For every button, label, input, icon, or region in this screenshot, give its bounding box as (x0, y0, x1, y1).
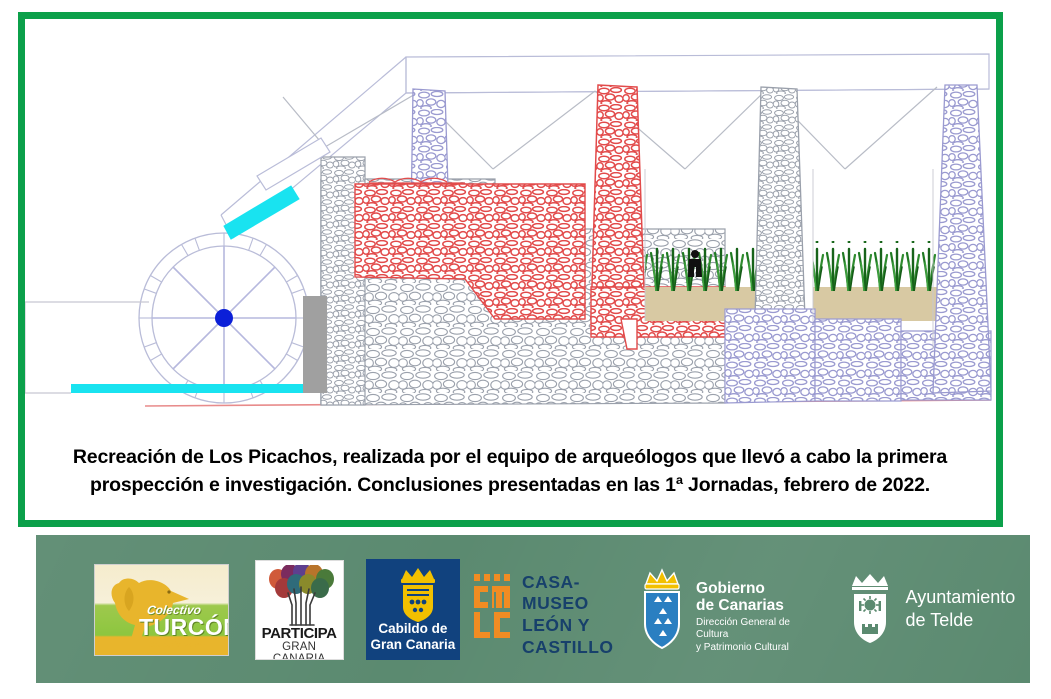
crown-shield-icon (392, 565, 444, 623)
gobierno-line-2: de Canarias (696, 597, 784, 615)
caption-line-2: prospección e investigación. Conclusione… (55, 472, 965, 500)
reconstruction-drawing (25, 19, 996, 429)
sponsor-footer-band: Colectivo TURCÓN Ecologistas en Acción (36, 535, 1030, 683)
turcon-line-big: TURCÓN (139, 614, 229, 641)
telde-shield-icon (844, 572, 896, 646)
gobierno-line-4: y Patrimonio Cultural (696, 642, 814, 655)
pier-column-3-gray (755, 87, 805, 319)
telde-line-1: Ayuntamiento (906, 586, 1016, 609)
logo-colectivo-turcon[interactable]: Colectivo TURCÓN Ecologistas en Acción (94, 564, 229, 656)
casa-museo-line-2: LEÓN Y (522, 615, 614, 637)
logo-casa-museo-leon-y-castillo[interactable]: CASA-MUSEO LEÓN Y CASTILLO (470, 572, 608, 648)
roof-slab (406, 54, 989, 93)
logo-gobierno-de-canarias[interactable]: Gobierno de Canarias Dirección General d… (632, 564, 814, 656)
water-inflow-channel (224, 138, 330, 239)
turcon-line-tag: Ecologistas en Acción (145, 639, 228, 656)
gobierno-line-1: Gobierno (696, 580, 784, 598)
telde-line-2: de Telde (906, 609, 1016, 632)
casa-museo-line-3: CASTILLO (522, 637, 614, 659)
terrace-2 (813, 241, 943, 321)
casa-museo-line-1: CASA-MUSEO (522, 572, 614, 615)
logo-cabildo-gran-canaria[interactable]: Cabildo de Gran Canaria (366, 559, 460, 660)
wheel-hub (215, 309, 233, 327)
participa-line-1: PARTICIPA (256, 625, 343, 642)
gobierno-subtitle: Dirección General de Cultura y Patrimoni… (696, 617, 814, 655)
logo-participa-gran-canaria[interactable]: PARTICIPA GRAN CANARIA (255, 560, 344, 660)
casa-museo-text: CASA-MUSEO LEÓN Y CASTILLO (522, 572, 614, 659)
hands-balloons-icon (262, 565, 344, 627)
framed-content-panel: Recreación de Los Picachos, realizada po… (18, 12, 1003, 527)
pier-column-4-purple (933, 85, 991, 393)
gobierno-line-3: Dirección General de Cultura (696, 617, 814, 643)
logo-ayuntamiento-de-telde[interactable]: Ayuntamiento de Telde (844, 570, 1016, 650)
telde-text: Ayuntamiento de Telde (906, 586, 1016, 633)
canarias-shield-icon (632, 566, 692, 652)
sponsor-logo-row: Colectivo TURCÓN Ecologistas en Acción (56, 557, 1016, 662)
water-wheel (139, 233, 309, 403)
cabildo-line-1: Cabildo de (366, 621, 460, 636)
slide-root: Recreación de Los Picachos, realizada po… (0, 0, 1051, 699)
gobierno-title: Gobierno de Canarias (696, 580, 784, 616)
pier-column-2-red (591, 85, 645, 319)
water-channel-bottom (71, 384, 303, 393)
participa-line-2: GRAN CANARIA (256, 641, 343, 660)
figure-caption: Recreación de Los Picachos, realizada po… (55, 444, 965, 499)
caption-line-1: Recreación de Los Picachos, realizada po… (55, 444, 965, 472)
cmlc-monogram-icon (472, 574, 516, 640)
reservoir-outline (25, 302, 149, 393)
sluice-block (303, 296, 327, 393)
cabildo-line-2: Gran Canaria (366, 637, 460, 652)
